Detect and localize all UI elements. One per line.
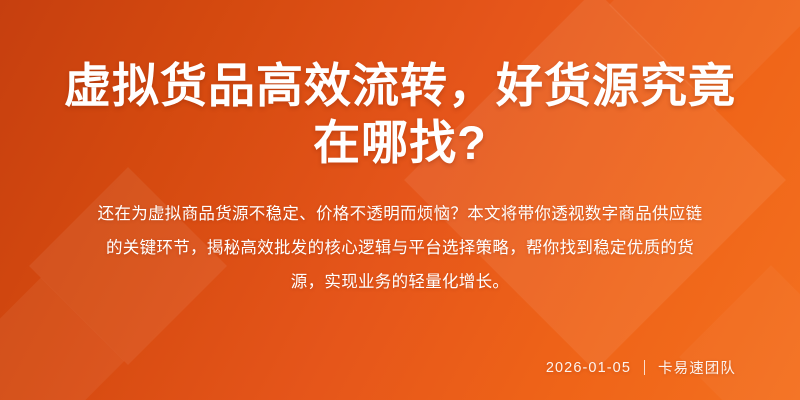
- banner-summary: 还在为虚拟商品货源不稳定、价格不透明而烦恼？本文将带你透视数字商品供应链的关键环…: [94, 198, 706, 300]
- banner-meta: 2026-01-05 卡易速团队: [56, 357, 744, 378]
- author-name: 卡易速团队: [658, 357, 736, 378]
- article-cover-banner: 虚拟货品高效流转，好货源究竟 在哪找? 还在为虚拟商品货源不稳定、价格不透明而烦…: [0, 0, 800, 400]
- banner-content: 虚拟货品高效流转，好货源究竟 在哪找? 还在为虚拟商品货源不稳定、价格不透明而烦…: [0, 0, 800, 400]
- meta-separator: [644, 360, 645, 375]
- publish-date: 2026-01-05: [546, 360, 631, 376]
- banner-title: 虚拟货品高效流转，好货源究竟 在哪找?: [56, 58, 744, 172]
